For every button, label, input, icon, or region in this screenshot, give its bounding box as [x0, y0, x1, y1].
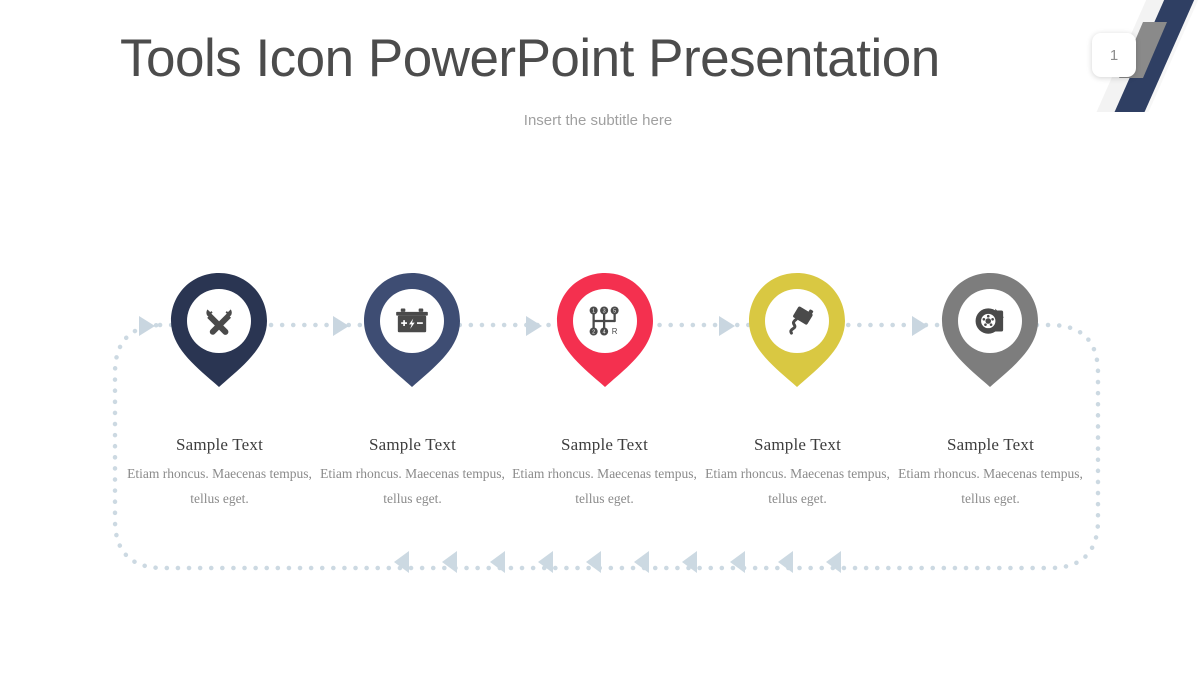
return-arrow-markers	[394, 551, 841, 573]
gear-label-3: 3	[603, 308, 606, 314]
gear-label-5: 5	[613, 308, 616, 314]
step-heading-2: Sample Text	[305, 435, 520, 455]
gear-label-2: 2	[592, 329, 595, 335]
step-text-3: Sample Text Etiam rhoncus. Maecenas temp…	[497, 435, 712, 512]
step-heading-5: Sample Text	[883, 435, 1098, 455]
step-body-3: Etiam rhoncus. Maecenas tempus, tellus e…	[497, 462, 712, 512]
arrow-left-icon	[538, 551, 553, 573]
gear-label-reverse: R	[612, 327, 618, 336]
step-icon-5	[940, 271, 1040, 371]
page-number-label: 1	[1110, 47, 1118, 64]
corner-decoration: 1	[1035, 0, 1200, 112]
step-body-1: Etiam rhoncus. Maecenas tempus, tellus e…	[112, 462, 327, 512]
step-marker-1[interactable]	[169, 271, 269, 389]
step-text-1: Sample Text Etiam rhoncus. Maecenas temp…	[112, 435, 327, 512]
brake-disc-icon	[969, 300, 1011, 342]
step-icon-4	[747, 271, 847, 371]
wrench-screwdriver-icon	[198, 300, 240, 342]
gear-shift-icon: 1 3 5 2 4 R	[584, 300, 626, 342]
step-heading-3: Sample Text	[497, 435, 712, 455]
step-icon-3: 1 3 5 2 4 R	[555, 271, 655, 371]
arrow-right-icon	[526, 316, 542, 336]
step-marker-4[interactable]	[747, 271, 847, 389]
arrow-right-icon	[139, 316, 155, 336]
step-marker-2[interactable]	[362, 271, 462, 389]
step-text-5: Sample Text Etiam rhoncus. Maecenas temp…	[883, 435, 1098, 512]
page-subtitle-text: Insert the subtitle here	[524, 112, 672, 129]
page-title: Tools Icon PowerPoint Presentation	[120, 28, 940, 89]
arrow-left-icon	[634, 551, 649, 573]
step-body-5: Etiam rhoncus. Maecenas tempus, tellus e…	[883, 462, 1098, 512]
step-marker-5[interactable]	[940, 271, 1040, 389]
page-subtitle: Insert the subtitle here	[0, 112, 1200, 129]
arrow-left-icon	[778, 551, 793, 573]
arrow-left-icon	[490, 551, 505, 573]
arrow-left-icon	[394, 551, 409, 573]
step-text-4: Sample Text Etiam rhoncus. Maecenas temp…	[690, 435, 905, 512]
step-icon-1	[169, 271, 269, 371]
arrow-right-icon	[719, 316, 735, 336]
arrow-right-icon	[333, 316, 349, 336]
arrow-left-icon	[730, 551, 745, 573]
step-icon-2	[362, 271, 462, 371]
step-heading-1: Sample Text	[112, 435, 327, 455]
page-number-badge: 1	[1092, 33, 1136, 77]
gear-label-4: 4	[603, 329, 606, 335]
step-heading-4: Sample Text	[690, 435, 905, 455]
arrow-left-icon	[826, 551, 841, 573]
step-text-2: Sample Text Etiam rhoncus. Maecenas temp…	[305, 435, 520, 512]
arrow-left-icon	[682, 551, 697, 573]
step-body-4: Etiam rhoncus. Maecenas tempus, tellus e…	[690, 462, 905, 512]
arrow-left-icon	[586, 551, 601, 573]
arrow-left-icon	[442, 551, 457, 573]
slide-canvas: Tools Icon PowerPoint Presentation Inser…	[0, 0, 1200, 675]
step-marker-3[interactable]: 1 3 5 2 4 R	[555, 271, 655, 389]
gear-label-1: 1	[592, 308, 595, 314]
car-battery-icon	[392, 301, 432, 341]
step-body-2: Etiam rhoncus. Maecenas tempus, tellus e…	[305, 462, 520, 512]
arrow-right-icon	[912, 316, 928, 336]
muffler-exhaust-icon	[777, 301, 817, 341]
